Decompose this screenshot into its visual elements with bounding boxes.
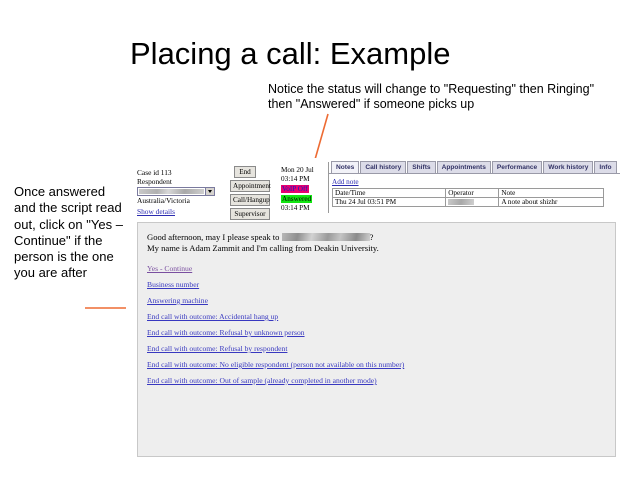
script-outcome-options: Yes - Continue Business number Answering… <box>147 264 615 385</box>
call-script-region: Good afternoon, may I please speak to ? … <box>137 222 616 457</box>
status-time-top: 03:14 PM <box>281 175 315 184</box>
script-greeting: Good afternoon, may I please speak to <box>147 232 282 242</box>
application-screenshot: Case id 113 Respondent Australia/Victori… <box>126 158 622 463</box>
option-yes-continue[interactable]: Yes - Continue <box>147 264 192 273</box>
call-status-column: Mon 20 Jul 03:14 PM VoIP Off Answered 03… <box>281 166 315 213</box>
case-details-block: Case id 113 Respondent Australia/Victori… <box>137 168 233 216</box>
notes-table-header-row: Date/Time Operator Note <box>333 189 604 198</box>
script-line-1: Good afternoon, may I please speak to ? <box>147 232 615 243</box>
respondent-name-redacted <box>282 233 370 241</box>
status-date: Mon 20 Jul <box>281 166 315 175</box>
option-accidental-hang-up[interactable]: End call with outcome: Accidental hang u… <box>147 312 278 321</box>
appointment-button[interactable]: Appointment <box>230 180 270 192</box>
respondent-label: Respondent <box>137 177 233 186</box>
page-title: Placing a call: Example <box>130 36 451 72</box>
supervisor-button[interactable]: Supervisor <box>230 208 270 220</box>
chevron-down-icon[interactable] <box>205 188 214 195</box>
case-region: Australia/Victoria <box>137 196 233 205</box>
tab-call-history[interactable]: Call history <box>360 161 406 173</box>
app-header-region: Case id 113 Respondent Australia/Victori… <box>126 158 622 215</box>
case-id-label: Case id 113 <box>137 168 233 177</box>
tab-appointments[interactable]: Appointments <box>437 161 491 173</box>
respondent-value-redacted <box>139 189 204 194</box>
end-button[interactable]: End <box>234 166 256 178</box>
col-note: Note <box>499 189 604 198</box>
voip-status-badge: VoIP Off <box>281 185 309 193</box>
cell-note: A note about shizhr <box>499 198 604 207</box>
add-note-link[interactable]: Add note <box>332 178 359 186</box>
script-line-2: My name is Adam Zammit and I'm calling f… <box>147 243 615 254</box>
col-datetime: Date/Time <box>333 189 446 198</box>
table-row[interactable]: Thu 24 Jul 03:51 PM A note about shizhr <box>333 198 604 207</box>
tab-shifts[interactable]: Shifts <box>407 161 435 173</box>
tab-notes[interactable]: Notes <box>331 161 359 173</box>
script-greeting-end: ? <box>370 232 374 242</box>
tab-work-history[interactable]: Work history <box>543 161 593 173</box>
option-refusal-unknown[interactable]: End call with outcome: Refusal by unknow… <box>147 328 305 337</box>
respondent-select[interactable] <box>137 187 215 196</box>
option-out-of-sample[interactable]: End call with outcome: Out of sample (al… <box>147 376 377 385</box>
option-business-number[interactable]: Business number <box>147 280 199 289</box>
show-details-link[interactable]: Show details <box>137 207 175 216</box>
call-status-badge: Answered <box>281 195 312 203</box>
annotation-yes-continue-note: Once answered and the script read out, c… <box>14 184 126 282</box>
cell-operator <box>446 198 499 207</box>
call-hangup-button[interactable]: Call/Hangup <box>230 194 270 206</box>
cell-datetime: Thu 24 Jul 03:51 PM <box>333 198 446 207</box>
notes-table: Date/Time Operator Note Thu 24 Jul 03:51… <box>332 188 604 207</box>
option-answering-machine[interactable]: Answering machine <box>147 296 208 305</box>
tab-info[interactable]: Info <box>594 161 616 173</box>
col-operator: Operator <box>446 189 499 198</box>
option-no-eligible-respondent[interactable]: End call with outcome: No eligible respo… <box>147 360 404 369</box>
operator-redacted <box>448 199 474 205</box>
tab-panel: Notes Call history Shifts Appointments P… <box>328 162 620 213</box>
annotation-status-note: Notice the status will change to "Reques… <box>268 82 598 112</box>
tab-performance[interactable]: Performance <box>492 161 542 173</box>
tab-strip: Notes Call history Shifts Appointments P… <box>331 162 620 173</box>
notes-tab-body: Add note Date/Time Operator Note Thu 24 … <box>329 173 620 212</box>
status-time-bottom: 03:14 PM <box>281 204 315 213</box>
option-refusal-respondent[interactable]: End call with outcome: Refusal by respon… <box>147 344 287 353</box>
